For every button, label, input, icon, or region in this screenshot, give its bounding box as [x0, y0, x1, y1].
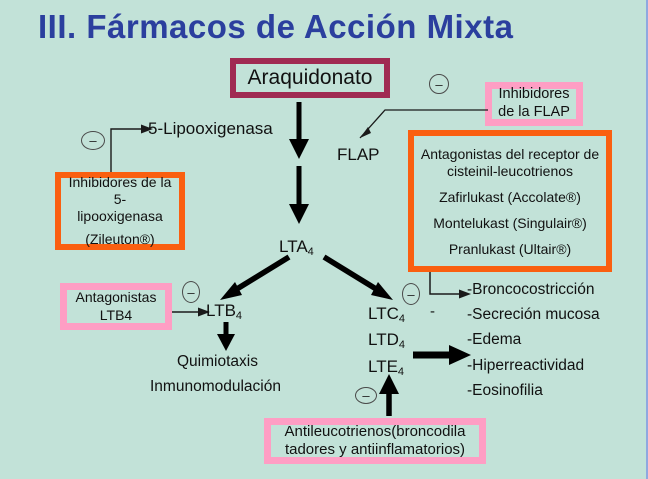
effect-item-edema: -Edema [467, 331, 521, 349]
box-ltb4-line1: Antagonistas [76, 289, 157, 306]
box-ltb4-antagonists[interactable]: Antagonistas LTB4 [60, 283, 172, 330]
effect-item-hiperreactividad: -Hiperreactividad [467, 357, 584, 375]
box-lipooxigenase-inhibitors[interactable]: Inhibidores de la 5- lipooxigenasa (Zile… [55, 172, 185, 250]
box-antileuk-line1: Antileucotrienos(broncodila [285, 423, 466, 441]
arrow-antileukotrienes-up [378, 374, 400, 416]
box-lipox-line3: (Zileuton®) [85, 231, 154, 248]
node-ltb4-text: LTB [206, 301, 236, 320]
box-antileuk-line2: tadores y antiinflamatorios) [285, 441, 465, 459]
node-lta4: LTA4 [279, 237, 314, 257]
node-ltb4-sub: 4 [236, 310, 242, 322]
node-quimiotaxis: Quimiotaxis [177, 353, 258, 371]
minus-sign-lte4: – [355, 387, 377, 404]
box-cys-line2: cisteinil-leucotrienos [447, 163, 573, 180]
arrow-araquidonato-down-2 [288, 166, 310, 228]
box-cys-line3: Zafirlukast (Accolate®) [439, 189, 581, 206]
arrow-araquidonato-down-1 [288, 102, 310, 162]
box-ltb4-line2: LTB4 [100, 307, 132, 324]
node-ltc4: LTC4 [368, 304, 405, 324]
minus-sign-lipooxigenasa: – [81, 131, 105, 150]
box-flap-inhibitors-line1: Inhibidores [499, 86, 570, 104]
node-ltc4-sub: 4 [399, 313, 405, 325]
box-lipox-line2: lipooxigenasa [77, 208, 163, 225]
page-title: III. Fármacos de Acción Mixta [38, 8, 513, 46]
arrow-leukotrienes-to-effects [413, 344, 475, 366]
minus-glyph: – [89, 134, 96, 147]
arrow-lta4-to-ltb4 [215, 255, 293, 307]
node-ltb4: LTB4 [206, 301, 242, 321]
effect-item-broncocostriccion: -Broncocostricción [467, 281, 595, 299]
box-antileukotrienes[interactable]: Antileucotrienos(broncodila tadores y an… [264, 418, 486, 464]
box-araquidonato-label: Araquidonato [248, 66, 373, 90]
minus-sign-ltb4: – [182, 281, 200, 303]
minus-glyph: – [435, 78, 442, 91]
box-flap-inhibitors-line2: de la FLAP [498, 104, 570, 122]
box-cys-line5: Pranlukast (Ultair®) [449, 241, 571, 258]
box-lipox-line1: Inhibidores de la 5- [61, 174, 179, 208]
node-lta4-sub: 4 [308, 246, 314, 258]
box-cys-line1: Antagonistas del receptor de [421, 146, 599, 163]
box-cys-line4: Montelukast (Singulair®) [433, 215, 587, 232]
node-ltd4: LTD4 [368, 330, 405, 350]
node-dash-marker: - [430, 303, 435, 320]
node-lta4-text: LTA [279, 237, 308, 256]
minus-glyph: – [187, 286, 194, 299]
node-ltc4-text: LTC [368, 304, 399, 323]
effect-item-secrecion-mucosa: -Secreción mucosa [467, 306, 600, 324]
arrow-lta4-to-ltc4 [320, 255, 398, 307]
slide-canvas: III. Fármacos de Acción Mixta Araquidona… [0, 0, 648, 479]
box-flap-inhibitors[interactable]: Inhibidores de la FLAP [485, 82, 583, 126]
minus-glyph: – [362, 389, 369, 402]
node-flap: FLAP [337, 145, 380, 165]
node-ltd4-text: LTD [368, 330, 399, 349]
arrow-ltb4-to-quimiotaxis [215, 322, 237, 354]
node-ltd4-sub: 4 [399, 339, 405, 351]
node-5-lipooxigenasa: 5-Lipooxigenasa [148, 119, 273, 139]
minus-sign-ltc4: – [402, 283, 420, 305]
minus-sign-flap: – [429, 74, 449, 94]
node-inmunomodulacion: Inmunomodulación [150, 378, 281, 396]
box-cysteinyl-antagonists[interactable]: Antagonistas del receptor de cisteinil-l… [408, 130, 612, 272]
minus-glyph: – [407, 288, 414, 301]
box-araquidonato[interactable]: Araquidonato [230, 58, 390, 98]
effect-item-eosinofilia: -Eosinofilia [467, 382, 543, 400]
